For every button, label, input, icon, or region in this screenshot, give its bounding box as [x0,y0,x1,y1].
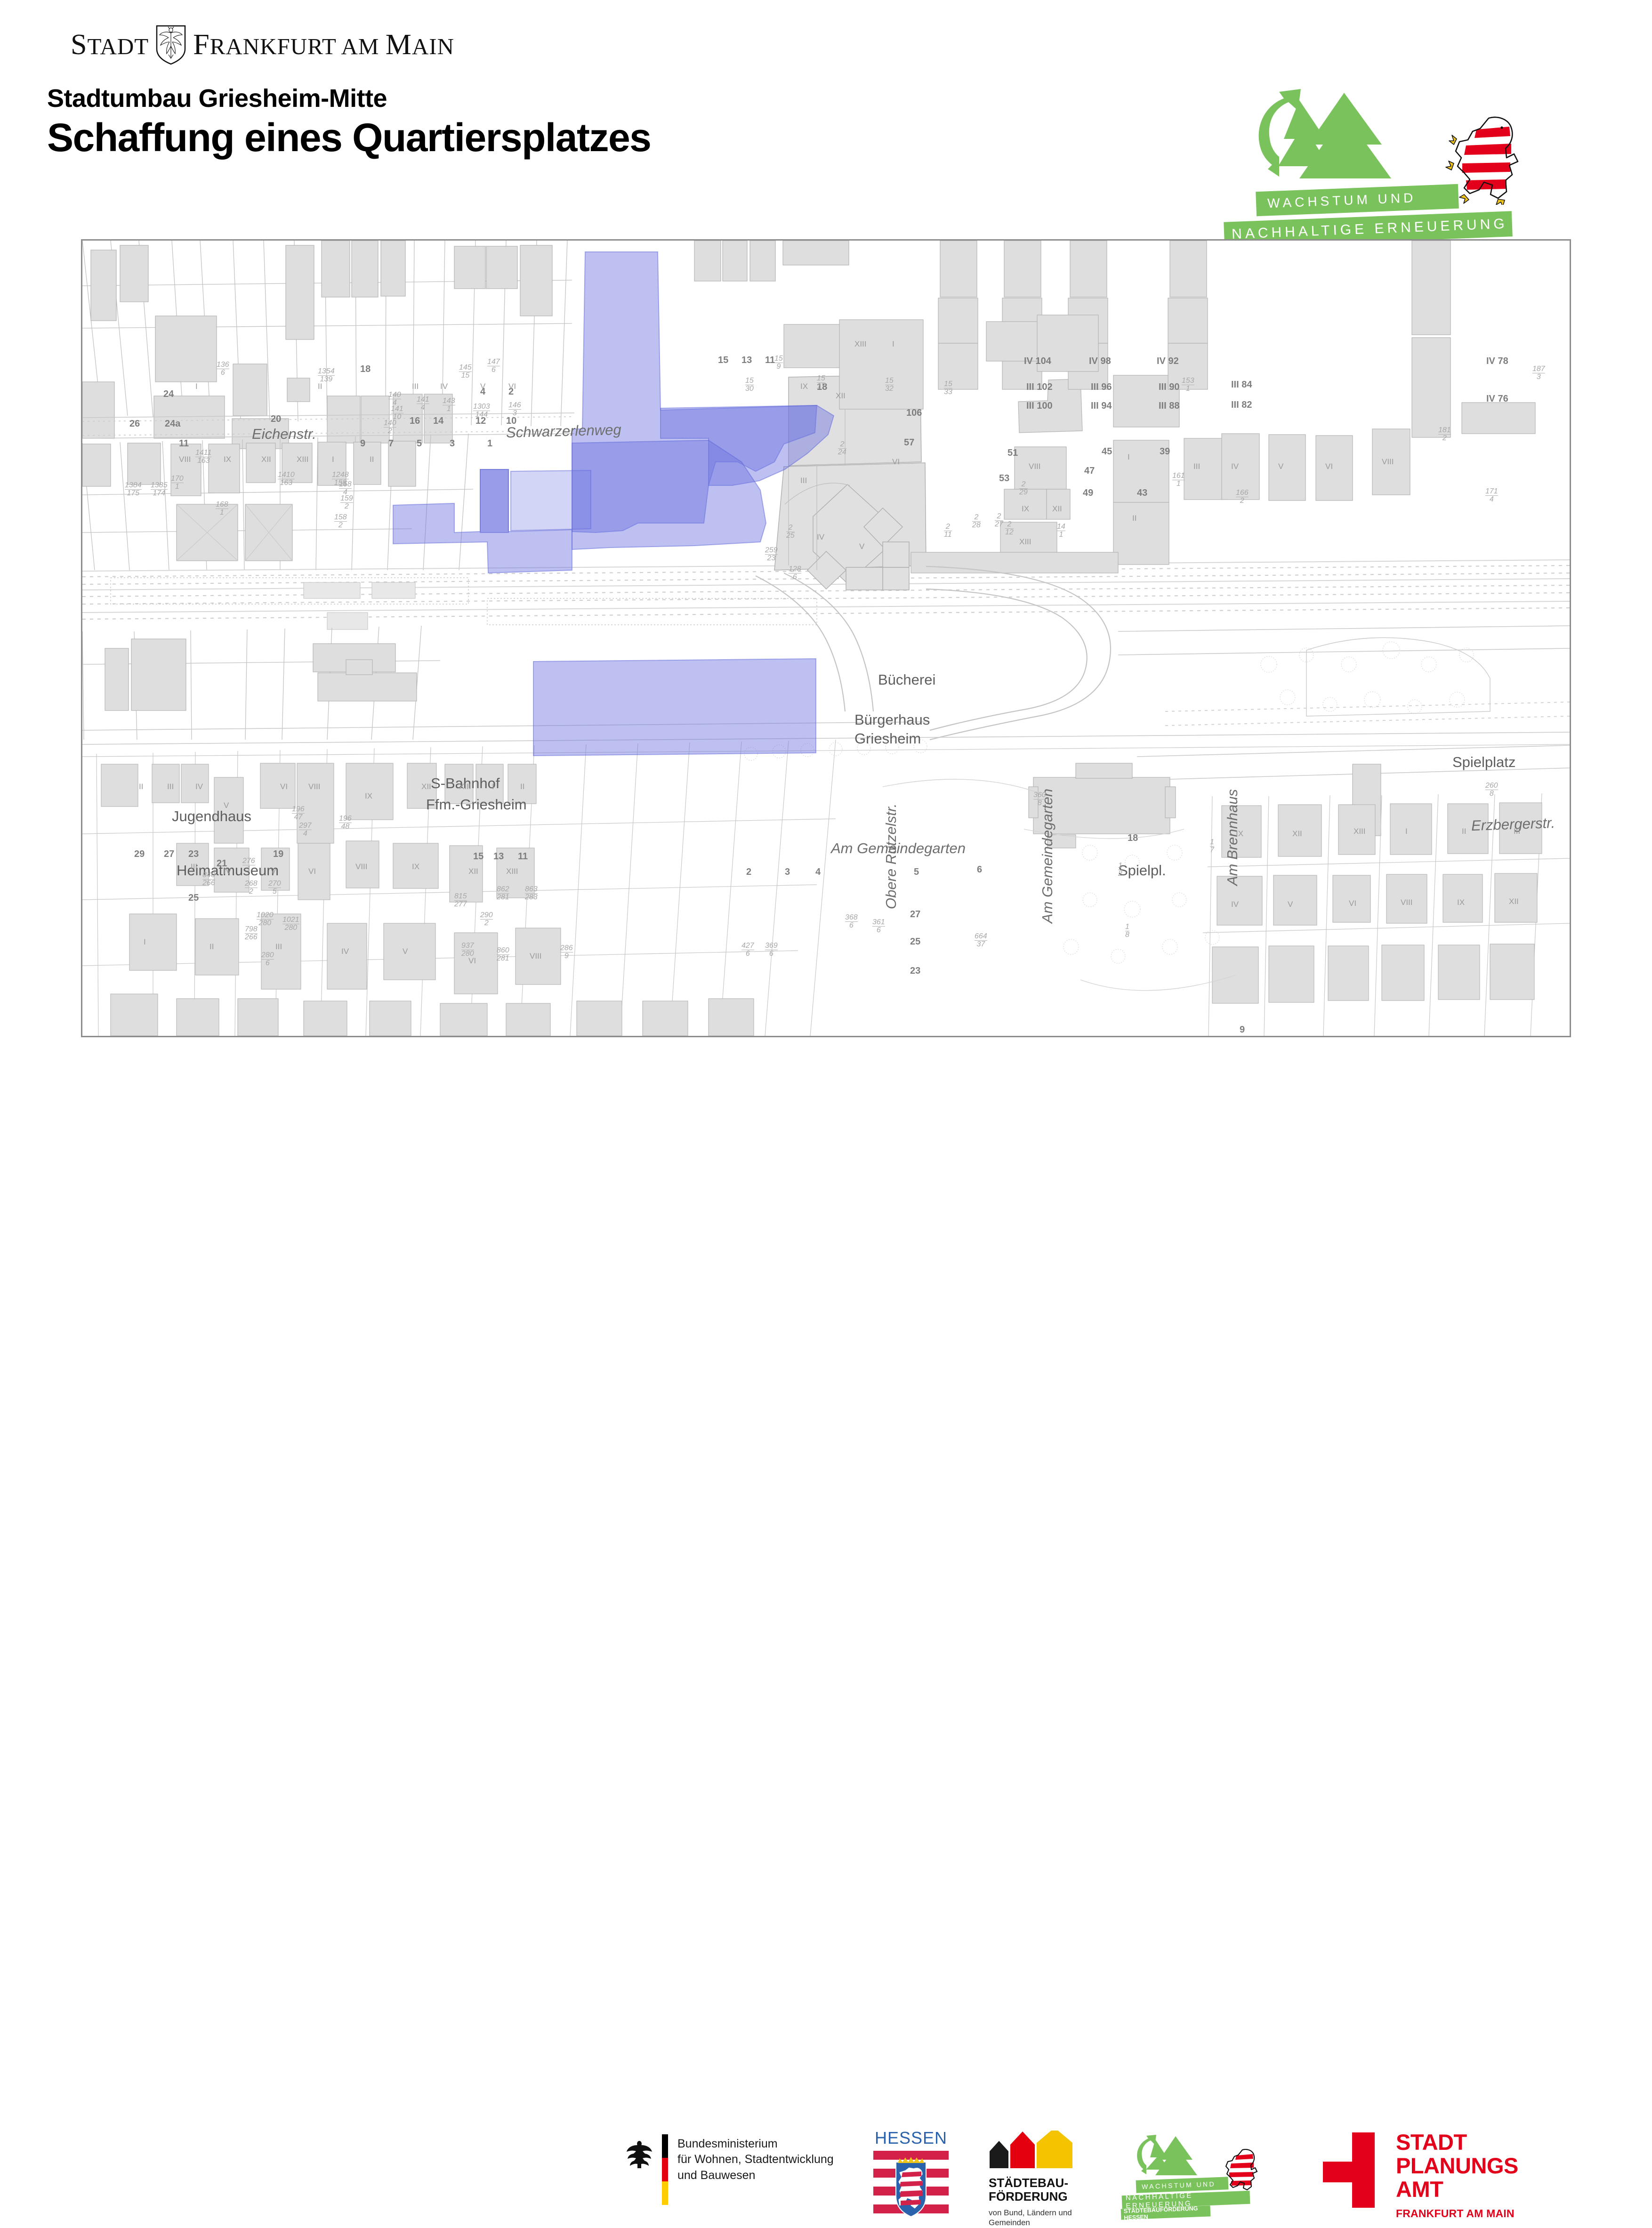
map-floor-count: I [492,782,494,791]
map-street-label-am-gemeindegarten: Am Gemeindegarten [1039,789,1056,923]
map-floor-count: VIII [355,862,368,872]
map-parcel-number: 1402 [384,420,396,435]
map-parcel-number: 228 [972,514,981,529]
map-floor-count: XIII [459,782,471,791]
staedtebau-subtitle: von Bund, Ländern und Gemeinden [989,2208,1097,2228]
map-parcel-number: 12 [1118,862,1122,878]
map-parcel-number: 229 [1019,481,1028,496]
map-house-number: 29 [134,849,145,860]
map-floor-count: II [1462,827,1466,836]
bmwsb-line2: für Wohnen, Stadtentwicklung [677,2152,834,2167]
map-house-number: 26 [129,419,140,429]
map-parcel-number: 1303144 [473,403,490,419]
map-floor-count: IV [224,867,231,876]
city-logo-frankfurt: FRANKFURT AM MAIN [193,28,454,62]
map-floor-count: IV [817,533,824,542]
map-parcel-number: 1714 [1485,488,1498,503]
map-street-label-erzbergerstr-: Erzbergerstr. [1471,815,1555,834]
map-floor-count: I [332,455,334,464]
map-floor-count: V [1278,462,1283,471]
map-floor-count: XIII [506,867,518,876]
map-house-number: 25 [188,893,199,904]
spa-subtitle: FRANKFURT AM MAIN [1396,2207,1518,2220]
map-place-label-ffm-griesheim: Ffm.-Griesheim [426,796,527,813]
stadtplanungsamt-logo: STADT PLANUNGS AMT FRANKFURT AM MAIN [1323,2131,1587,2220]
map-house-number: 2 [746,867,751,878]
map-parcel-number: 1021280 [282,916,299,932]
map-parcel-number: 1404 [388,391,401,407]
map-floor-count: V [271,867,276,876]
map-parcel-number: 3608 [1033,791,1046,807]
cadastral-map[interactable]: Eichenstr.SchwarzerlenwegErzbergerstr.Am… [81,239,1571,1037]
map-house-number: 13 [741,355,752,366]
map-floor-count: VI [508,382,516,391]
map-parcel-number: 1384175 [125,482,142,497]
map-floor-count: XIII [297,455,309,464]
map-parcel-number: 1662 [1236,489,1249,505]
map-parcel-number: 66437 [975,933,987,948]
spa-title: STADT PLANUNGS AMT [1396,2131,1518,2201]
map-floor-count: IX [1236,829,1243,839]
map-parcel-number: 1873 [1532,365,1545,381]
map-floor-count: XIII [854,339,867,349]
map-floor-count: I [1128,452,1130,462]
map-parcel-number: 1582 [334,514,347,529]
stadt-frankfurt-logo: STADT FRANKFURT AM MAIN [71,26,391,64]
stadtplanungsamt-text: STADT PLANUNGS AMT FRANKFURT AM MAIN [1396,2131,1518,2220]
map-floor-count: IX [224,455,231,464]
map-floor-count: XII [1509,897,1519,906]
map-parcel-number: 1476 [487,358,500,374]
map-floor-count: III [191,862,197,872]
map-place-label-griesheim: Griesheim [854,730,921,747]
map-floor-count: I [1405,827,1408,836]
map-parcel-number: 1411163 [195,449,211,465]
map-house-number: 18 [1128,833,1138,844]
map-floor-count: V [859,542,864,551]
map-house-number: 6 [977,864,982,875]
map-house-number: 25 [910,936,920,947]
map-floor-count: XII [261,455,271,464]
map-floor-count: VIII [530,952,542,961]
map-parcel-number: 1517 [817,375,825,390]
map-floor-count: XII [836,391,846,401]
map-floor-count: IX [1022,504,1029,514]
map-house-number: 43 [1137,488,1147,499]
map-house-number: 11 [179,438,189,449]
map-house-number: 14 [433,416,443,427]
map-house-number: III 88 [1159,401,1179,412]
map-parcel-number: 3696 [765,942,778,958]
map-floor-count: II [520,782,524,791]
map-parcel-number: 3616 [872,919,885,934]
map-house-number: 45 [1102,446,1112,457]
map-house-number: 4 [815,867,821,878]
map-house-number: III 100 [1026,401,1053,412]
map-parcel-number: 863283 [525,886,538,901]
map-parcel-number: 2806 [261,952,274,967]
map-floor-count: II [318,382,322,391]
map-parcel-number: 1431 [443,397,455,413]
map-house-number: 5 [914,867,919,878]
map-house-number: IV 78 [1486,356,1508,367]
map-parcel-number: 14515 [459,364,472,379]
german-flag-bar [662,2134,668,2205]
map-parcel-number: 1020280 [257,912,274,927]
map-parcel-number: 141 [1057,523,1065,539]
city-logo-stadt: STADT [71,28,149,62]
map-parcel-number: 17 [1210,839,1214,854]
map-parcel-number: 1611 [1172,472,1185,488]
map-floor-count: VI [308,867,316,876]
map-house-number: 7 [388,438,394,449]
map-floor-count: III [1193,462,1200,471]
map-parcel-number: 1584 [339,481,352,496]
map-house-number: 20 [271,414,281,425]
map-floor-count: XIII [1354,827,1366,836]
map-floor-count: VI [1349,899,1356,908]
map-parcel-number: 159 [774,355,783,371]
map-floor-count: V [224,801,229,810]
map-house-number: 19 [273,849,283,860]
map-parcel-number: 815277 [454,893,467,908]
map-floor-count: IV [1231,900,1239,909]
map-parcel-number: 1531 [1182,377,1194,393]
map-parcel-number: 1385174 [151,482,168,497]
map-parcel-number: 862281 [497,886,509,901]
map-floor-count: XII [421,782,431,791]
bmwsb-line3: und Bauwesen [677,2168,834,2183]
map-floor-count: II [139,782,143,791]
map-place-label-b-cherei: Bücherei [878,671,935,688]
map-parcel-number: 4276 [741,942,754,958]
map-house-number: 1 [487,438,492,449]
map-street-label-obere-r-tzelstr-: Obere Rützelstr. [883,803,900,909]
map-parcel-number: 2705 [268,880,281,896]
map-house-number: 11 [518,851,528,862]
map-floor-count: IX [365,791,372,801]
map-parcel-number: 1532 [885,377,894,393]
map-house-number: III 96 [1091,382,1112,393]
map-parcel-number: 19647 [292,806,305,821]
map-house-number: III 90 [1159,382,1179,393]
federal-eagle-icon [626,2139,653,2170]
map-parcel-number: 3686 [845,914,858,929]
sbf-sub1: von Bund, Ländern und [989,2208,1097,2218]
wachstum-erneuerung-logo-small: WACHSTUM UND NACHHALTIGE ERNEUERUNG STÄD… [1128,2133,1283,2218]
map-floor-count: III [800,476,807,485]
hessen-wordmark: HESSEN [873,2128,949,2148]
map-floor-count: VIII [179,455,191,464]
quartiersplatz-highlight [82,241,1570,1036]
map-parcel-number: 18 [1125,923,1129,939]
map-floor-count: V [480,382,485,391]
staedtebaufoerderung-logo: STÄDTEBAU- FÖRDERUNG von Bund, Ländern u… [989,2131,1097,2220]
map-floor-count: III [275,942,282,952]
map-floor-count: V [1288,900,1293,909]
map-parcel-number: 937280 [461,942,474,958]
map-street-label-eichenstr-: Eichenstr. [252,426,316,443]
map-parcel-number: 1414 [417,396,429,412]
map-place-label-spielpl-: Spielpl. [1118,862,1166,879]
map-house-number: 106 [906,408,922,419]
map-place-label-b-rgerhaus: Bürgerhaus [854,711,930,728]
map-floor-count: II [210,942,214,952]
spa-line3: AMT [1396,2178,1518,2201]
map-parcel-number: 1812 [1438,427,1451,442]
title-block: Stadtumbau Griesheim-Mitte Schaffung ein… [47,85,651,160]
map-floor-count: I [144,937,146,947]
page-title: Schaffung eines Quartiersplatzes [47,115,651,160]
spa-line2: PLANUNGS [1396,2154,1518,2178]
map-floor-count: XIII [1019,537,1031,547]
map-house-number: 3 [450,438,455,449]
map-parcel-number: 1701 [171,475,184,491]
map-floor-count: IV [195,782,203,791]
map-floor-count: I [892,339,894,349]
sbf-line1: STÄDTEBAU- [989,2176,1097,2190]
map-floor-count: VI [892,457,900,467]
map-parcel-number: 225 [786,524,795,540]
spa-line1: STADT [1396,2131,1518,2154]
map-parcel-number: 798266 [245,926,258,941]
sbf-line2: FÖRDERUNG [989,2190,1097,2204]
bmwsb-line1: Bundesministerium [677,2136,834,2152]
page-footer: Bundesministerium für Wohnen, Stadtentwi… [0,1062,1652,1168]
map-floor-count: IX [412,862,419,872]
map-house-number: 5 [417,438,422,449]
map-floor-count: VIII [1401,898,1413,907]
map-parcel-number: 212 [1005,521,1014,536]
map-parcel-number: 1463 [508,402,521,417]
map-house-number: IV 98 [1089,356,1111,367]
map-floor-count: VIII [1382,457,1394,467]
map-floor-count: III [167,782,174,791]
map-house-number: 13 [493,851,504,862]
sbf-sub2: Gemeinden [989,2218,1097,2228]
map-house-number: 49 [1083,488,1093,499]
page-subtitle: Stadtumbau Griesheim-Mitte [47,85,651,113]
map-parcel-number: 860281 [497,947,509,962]
map-parcel-number: 25923 [765,547,778,562]
map-house-number: 53 [999,473,1009,484]
map-place-label-jugendhaus: Jugendhaus [172,808,251,825]
map-parcel-number: 2682 [245,880,258,896]
map-house-number: 27 [910,909,920,920]
map-floor-count: II [370,455,374,464]
map-house-number: III 82 [1231,400,1252,411]
map-house-number: 9 [1240,1025,1245,1035]
map-house-number: 10 [506,416,516,427]
map-parcel-number: 1366 [217,361,229,377]
map-parcel-number: 211 [944,523,952,539]
map-floor-count: XII [468,867,478,876]
hessen-coat-of-arms-icon [873,2151,949,2220]
map-floor-count: III [1514,827,1520,836]
map-parcel-number: 1410163 [278,471,295,487]
map-house-number: 24a [165,419,180,429]
map-floor-count: XII [1292,829,1302,839]
map-parcel-number: 1533 [944,380,952,396]
map-house-number: 57 [904,437,914,448]
map-house-number: 51 [1007,448,1018,459]
map-parcel-number: 1530 [745,377,754,393]
map-house-number: 23 [188,849,199,860]
map-parcel-number: 2974 [299,822,312,838]
map-floor-count: V [403,947,408,956]
map-house-number: 16 [410,416,420,427]
map-house-number: 47 [1084,466,1095,476]
map-house-number: IV 92 [1157,356,1179,367]
map-house-number: 15 [718,355,728,366]
map-house-number: IV 104 [1024,356,1051,367]
map-parcel-number: 1354139 [318,368,335,383]
map-floor-count: I [195,382,198,391]
stadtplanungsamt-mark-icon [1323,2132,1375,2208]
hessen-logo: HESSEN [873,2128,949,2220]
map-parcel-number: 19648 [339,815,352,831]
map-house-number: 11 [765,355,775,366]
map-floor-count: VIII [308,782,321,791]
bundesministerium-logo: Bundesministerium für Wohnen, Stadtentwi… [626,2134,847,2214]
recycling-arrow-tree-icon [1250,87,1438,200]
map-house-number: 23 [910,966,920,977]
map-house-number: IV 76 [1486,394,1508,404]
map-house-number: III 102 [1026,382,1053,393]
map-parcel-number: 846266 [202,872,215,887]
map-parcel-number: 1286 [789,565,801,581]
map-house-number: 39 [1160,446,1170,457]
map-place-label-spielplatz: Spielplatz [1452,754,1515,771]
map-parcel-number: 2869 [560,944,573,960]
map-parcel-number: 2902 [480,912,493,927]
map-house-number: 24 [163,389,174,400]
map-parcel-number: 2761 [242,857,255,873]
map-floor-count: II [1132,514,1136,523]
three-houses-icon [989,2131,1073,2169]
map-floor-count: VI [468,956,476,966]
map-parcel-number: 1681 [216,501,228,517]
map-parcel-number: 224 [838,441,846,456]
map-house-number: III 94 [1091,401,1112,412]
map-house-number: III 84 [1231,379,1252,390]
staedtebau-title: STÄDTEBAU- FÖRDERUNG [989,2176,1097,2204]
map-house-number: 27 [164,849,174,860]
map-parcel-number: 227 [995,513,1003,528]
map-floor-count: VIII [1029,462,1041,471]
map-street-label-schwarzerlenweg: Schwarzerlenweg [506,421,622,441]
map-house-number: 18 [360,364,371,375]
map-canvas: Eichenstr.SchwarzerlenwegErzbergerstr.Am… [82,241,1570,1036]
bundesministerium-text: Bundesministerium für Wohnen, Stadtentwi… [677,2136,834,2183]
map-floor-count: XII [1052,504,1062,514]
page-header: STADT FRANKFURT AM MAIN Stadtumbau Gries… [0,0,1652,235]
map-floor-count: IV [440,382,448,391]
map-parcel-number: 1592 [340,495,353,510]
map-house-number: 9 [360,438,365,449]
map-house-number: 3 [785,867,790,878]
map-house-number: 15 [473,851,484,862]
map-floor-count: III [412,382,419,391]
map-floor-count: IV [1231,462,1239,471]
map-floor-count: IV [341,947,349,956]
map-parcel-number: 2608 [1485,782,1498,798]
map-floor-count: VI [1325,462,1333,471]
frankfurt-eagle-crest-icon [155,24,186,65]
map-floor-count: VI [280,782,288,791]
map-floor-count: IX [1457,898,1465,907]
map-floor-count: IX [800,382,808,391]
